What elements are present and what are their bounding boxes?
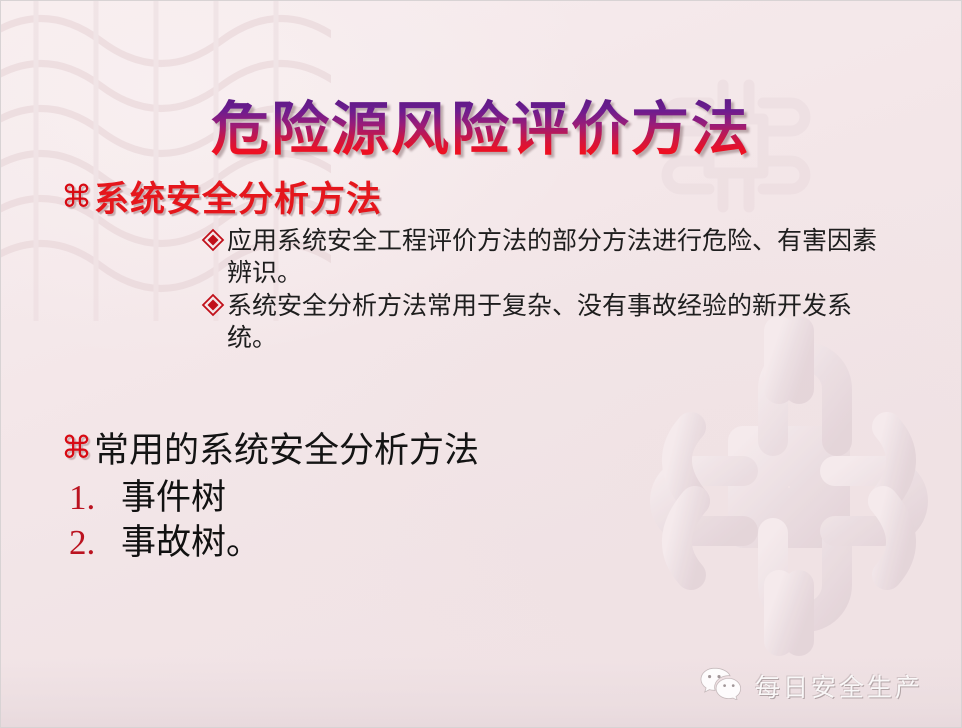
list-item: 应用系统安全工程评价方法的部分方法进行危险、有害因素辨识。 (61, 226, 925, 289)
watermark-text: 每日安全生产 (755, 668, 923, 704)
diamond-bullet-icon (201, 293, 225, 324)
command-bullet-icon: ⌘ (61, 179, 92, 217)
wechat-logo-icon (699, 666, 743, 705)
list-item-number: 1. (69, 476, 121, 520)
presentation-slide: 危险源风险评价方法 ⌘ 系统安全分析方法 应用系统安全工程评价方法的部分方法进行… (0, 0, 962, 728)
section-spacer (61, 356, 925, 430)
diamond-bullet-icon (201, 228, 225, 259)
list-item: 系统安全分析方法常用于复杂、没有事故经验的新开发系统。 (61, 291, 925, 354)
command-bullet-icon: ⌘ (61, 430, 92, 468)
section-heading-2-label: 常用的系统安全分析方法 (94, 430, 479, 471)
watermark: 每日安全生产 (699, 666, 923, 705)
section-heading-1: ⌘ 系统安全分析方法 (61, 179, 925, 220)
list-item-text: 事故树。 (121, 521, 261, 565)
list-item-text: 事件树 (121, 476, 226, 520)
numbered-list: 1. 事件树 2. 事故树。 (61, 476, 925, 566)
sub-bullet-list-1: 应用系统安全工程评价方法的部分方法进行危险、有害因素辨识。 系统安全分析方法常用… (61, 226, 925, 354)
list-item-text: 应用系统安全工程评价方法的部分方法进行危险、有害因素辨识。 (227, 226, 877, 289)
list-item-text: 系统安全分析方法常用于复杂、没有事故经验的新开发系统。 (227, 291, 877, 354)
list-item: 1. 事件树 (61, 476, 925, 520)
section-heading-2: ⌘ 常用的系统安全分析方法 (61, 430, 925, 471)
list-item: 2. 事故树。 (61, 521, 925, 565)
section-heading-1-label: 系统安全分析方法 (94, 179, 382, 220)
list-item-number: 2. (69, 521, 121, 565)
slide-content: ⌘ 系统安全分析方法 应用系统安全工程评价方法的部分方法进行危险、有害因素辨识。 (61, 179, 925, 567)
